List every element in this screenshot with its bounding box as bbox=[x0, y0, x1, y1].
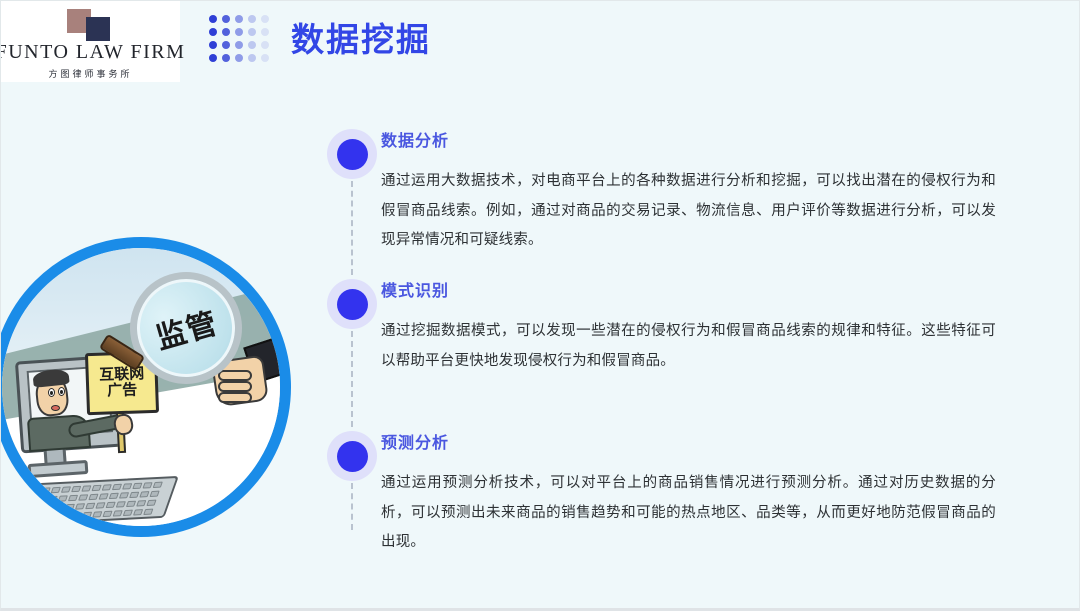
timeline-connector bbox=[351, 331, 353, 427]
section-body: 通过运用预测分析技术，可以对平台上的商品销售情况进行预测分析。通过对历史数据的分… bbox=[381, 469, 996, 558]
section-body: 通过挖掘数据模式，可以发现一些潜在的侵权行为和假冒商品线索的规律和特征。这些特征… bbox=[381, 317, 996, 376]
item-text-block: 预测分析 通过运用预测分析技术，可以对平台上的商品销售情况进行预测分析。通过对历… bbox=[381, 421, 1023, 558]
timeline-marker bbox=[323, 269, 381, 421]
timeline-marker bbox=[323, 421, 381, 558]
illustration-ring: 互联网 广告 监管 bbox=[0, 237, 291, 537]
list-item: 预测分析 通过运用预测分析技术，可以对平台上的商品销售情况进行预测分析。通过对历… bbox=[323, 421, 1023, 558]
list-item: 数据分析 通过运用大数据技术，对电商平台上的各种数据进行分析和挖掘，可以找出潜在… bbox=[323, 119, 1023, 269]
illustration-circle: 互联网 广告 监管 bbox=[0, 237, 291, 537]
logo-firm-name: FUNTO LAW FIRM bbox=[0, 41, 185, 64]
timeline-connector bbox=[351, 483, 353, 530]
item-text-block: 模式识别 通过挖掘数据模式，可以发现一些潜在的侵权行为和假冒商品线索的规律和特征… bbox=[381, 269, 1023, 421]
logo-squares bbox=[61, 7, 121, 39]
section-heading: 预测分析 bbox=[381, 429, 1023, 453]
list-item: 模式识别 通过挖掘数据模式，可以发现一些潜在的侵权行为和假冒商品线索的规律和特征… bbox=[323, 269, 1023, 421]
dot-grid-decoration bbox=[209, 15, 271, 64]
timeline-marker bbox=[323, 119, 381, 269]
hand-finger bbox=[218, 381, 252, 392]
bullet-icon bbox=[327, 431, 377, 481]
section-heading: 数据分析 bbox=[381, 127, 1023, 151]
timeline-connector bbox=[351, 181, 353, 275]
item-text-block: 数据分析 通过运用大数据技术，对电商平台上的各种数据进行分析和挖掘，可以找出潜在… bbox=[381, 119, 1023, 269]
cartoon-man-mouth bbox=[51, 405, 60, 411]
bullet-icon bbox=[327, 279, 377, 329]
slide-root: FUNTO LAW FIRM 方图律师事务所 数据挖掘 bbox=[0, 0, 1080, 611]
section-heading: 模式识别 bbox=[381, 277, 1023, 301]
hand-finger bbox=[218, 392, 252, 403]
logo-firm-name-cn: 方图律师事务所 bbox=[48, 67, 132, 80]
firm-logo: FUNTO LAW FIRM 方图律师事务所 bbox=[1, 1, 180, 82]
logo-square-navy bbox=[86, 17, 110, 41]
cartoon-man-eye-left bbox=[48, 388, 55, 397]
content-list: 数据分析 通过运用大数据技术，对电商平台上的各种数据进行分析和挖掘，可以找出潜在… bbox=[323, 119, 1023, 558]
section-body: 通过运用大数据技术，对电商平台上的各种数据进行分析和挖掘，可以找出潜在的侵权行为… bbox=[381, 167, 996, 256]
sign-text-line2: 广告 bbox=[107, 382, 138, 399]
bullet-icon bbox=[327, 129, 377, 179]
slide-header: 数据挖掘 bbox=[209, 15, 431, 64]
cartoon-man-eye-right bbox=[58, 387, 65, 396]
page-title: 数据挖掘 bbox=[291, 23, 431, 56]
